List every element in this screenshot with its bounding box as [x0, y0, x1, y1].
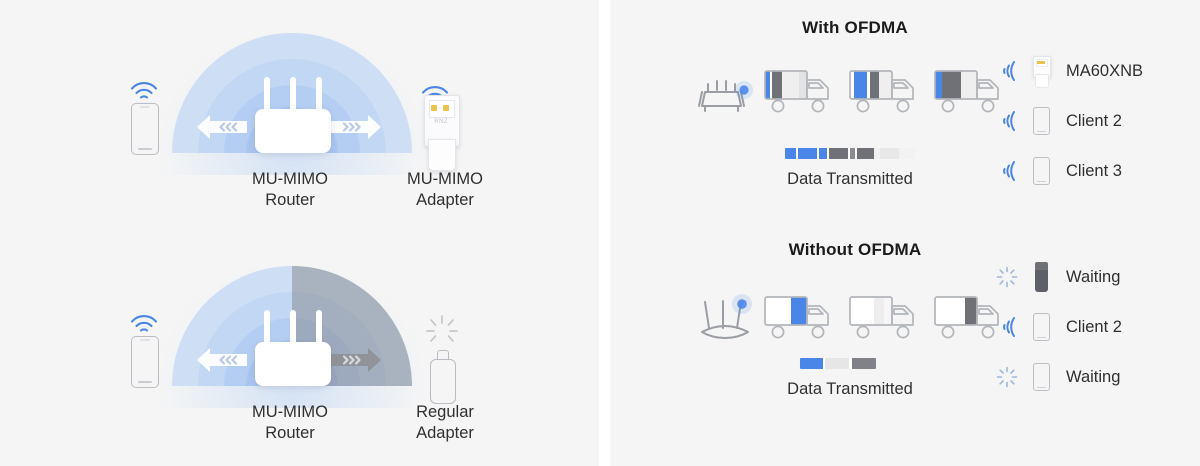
- client-name: Client 2: [1058, 318, 1122, 337]
- truck-icon: [762, 66, 836, 120]
- caption-mu-mimo-router: MU-MIMO Router: [196, 169, 384, 211]
- loading-spinner-icon: [990, 366, 1024, 388]
- truck-row-without-ofdma: [762, 292, 1012, 346]
- client-name: Client 3: [1058, 162, 1122, 181]
- caption-regular-adapter: Regular Adapter: [360, 402, 530, 444]
- client-list-without-ofdma: Waiting Client 2: [990, 252, 1190, 402]
- truck-icon: [847, 292, 921, 346]
- usb-pin-2: [443, 105, 449, 111]
- client-name: Client 2: [1058, 112, 1122, 131]
- router-body: [255, 342, 331, 386]
- bar-segment-empty: [880, 148, 898, 159]
- bar-segment: [829, 148, 849, 159]
- caption-mu-mimo-adapter: MU-MIMO Adapter: [360, 169, 530, 211]
- wifi-signal-icon: [129, 312, 159, 334]
- section-with-ofdma: With OFDMA: [610, 18, 1200, 230]
- caption-line-2: Adapter: [360, 190, 530, 211]
- bar-segment: [852, 358, 876, 369]
- router-three-antenna-icon: [692, 292, 758, 344]
- caption-line-1: MU-MIMO: [196, 402, 384, 423]
- client-row[interactable]: Waiting: [990, 252, 1190, 302]
- client-name: Waiting: [1058, 368, 1120, 387]
- caption-line-2: Adapter: [360, 423, 530, 444]
- client-row[interactable]: MA60XNB: [990, 46, 1190, 96]
- data-transmitted-label: Data Transmitted: [750, 170, 950, 189]
- scene-regular-adapter: MU-MIMO Router Regular Adapter: [0, 233, 599, 466]
- phone-home-bar: [138, 381, 152, 383]
- bar-segment-empty: [899, 148, 915, 159]
- usb-pins: [431, 105, 451, 111]
- truck-icon: [762, 292, 836, 346]
- router-antenna-1: [264, 310, 270, 346]
- client-name: MA60XNB: [1058, 62, 1143, 81]
- wifi-signal-icon: [990, 315, 1024, 339]
- phone-icon: [1024, 107, 1058, 135]
- usb-brand-text: RNZ: [424, 119, 458, 125]
- client-list-with-ofdma: MA60XNB Client 2: [990, 46, 1190, 196]
- client-row[interactable]: Waiting: [990, 352, 1190, 402]
- bar-segment: [798, 148, 818, 159]
- phone-notch: [140, 106, 150, 108]
- phone-notch: [140, 339, 150, 341]
- phone-icon: [1024, 157, 1058, 185]
- client-row[interactable]: Client 2: [990, 302, 1190, 352]
- arrow-upstream-right-gray: [330, 347, 382, 373]
- client-name: Waiting: [1058, 268, 1120, 287]
- usb-stem: [428, 139, 456, 171]
- phone-icon: [131, 103, 159, 155]
- comparison-diagram: RNZ MU-MIMO Router MU-MIMO Adapter: [0, 0, 1200, 466]
- caption-line-1: MU-MIMO: [360, 169, 530, 190]
- truck-row-with-ofdma: [762, 66, 1012, 120]
- bar-segment-empty: [825, 358, 849, 369]
- mu-mimo-router-icon: [255, 79, 331, 153]
- router-body: [255, 109, 331, 153]
- data-transmitted-bar: [800, 358, 876, 369]
- phone-icon: [1024, 363, 1058, 391]
- bar-segment: [857, 148, 874, 159]
- router-antenna-2: [290, 310, 296, 346]
- wifi-signal-icon: [990, 59, 1024, 83]
- arrow-upstream-right: [330, 114, 382, 140]
- router-antenna-1: [264, 77, 270, 113]
- loading-spinner-icon: [990, 266, 1024, 288]
- bar-segment: [800, 358, 823, 369]
- truck-icon: [847, 66, 921, 120]
- caption-line-2: Router: [196, 423, 384, 444]
- adapter-body: [430, 359, 456, 404]
- caption-line-1: MU-MIMO: [196, 169, 384, 190]
- data-transmitted-label: Data Transmitted: [750, 380, 950, 399]
- client-row[interactable]: Client 3: [990, 146, 1190, 196]
- wifi-signal-icon: [990, 159, 1024, 183]
- bar-segment: [785, 148, 796, 159]
- data-transmitted-bar: [785, 148, 915, 159]
- arrow-downstream-left: [196, 114, 248, 140]
- arrow-downstream-left: [196, 347, 248, 373]
- left-panel-mu-mimo: RNZ MU-MIMO Router MU-MIMO Adapter: [0, 0, 599, 466]
- phone-icon: [131, 336, 159, 388]
- usb-adapter-dark-icon: [1024, 262, 1058, 292]
- router-antenna-2: [290, 77, 296, 113]
- phone-icon: [1024, 313, 1058, 341]
- usb-pin-1: [431, 105, 437, 111]
- wifi-signal-icon: [129, 79, 159, 101]
- regular-adapter-icon: [430, 350, 454, 402]
- router-antenna-3: [316, 310, 322, 346]
- scene-mu-mimo-adapter: RNZ MU-MIMO Router MU-MIMO Adapter: [0, 0, 599, 233]
- wifi-signal-icon: [990, 109, 1024, 133]
- caption-mu-mimo-router: MU-MIMO Router: [196, 402, 384, 444]
- panel-divider: [604, 0, 606, 466]
- router-multi-antenna-icon: [692, 66, 758, 118]
- caption-line-2: Router: [196, 190, 384, 211]
- client-row[interactable]: Client 2: [990, 96, 1190, 146]
- bar-segment: [819, 148, 826, 159]
- phone-home-bar: [138, 148, 152, 150]
- section-title: With OFDMA: [610, 18, 1100, 38]
- usb-adapter-icon: [1024, 56, 1058, 86]
- router-antenna-3: [316, 77, 322, 113]
- mu-mimo-usb-adapter-icon: RNZ: [424, 95, 458, 169]
- no-signal-burst-icon: [425, 314, 459, 344]
- caption-line-1: Regular: [360, 402, 530, 423]
- mu-mimo-router-icon: [255, 312, 331, 386]
- section-without-ofdma: Without OFDMA: [610, 240, 1200, 440]
